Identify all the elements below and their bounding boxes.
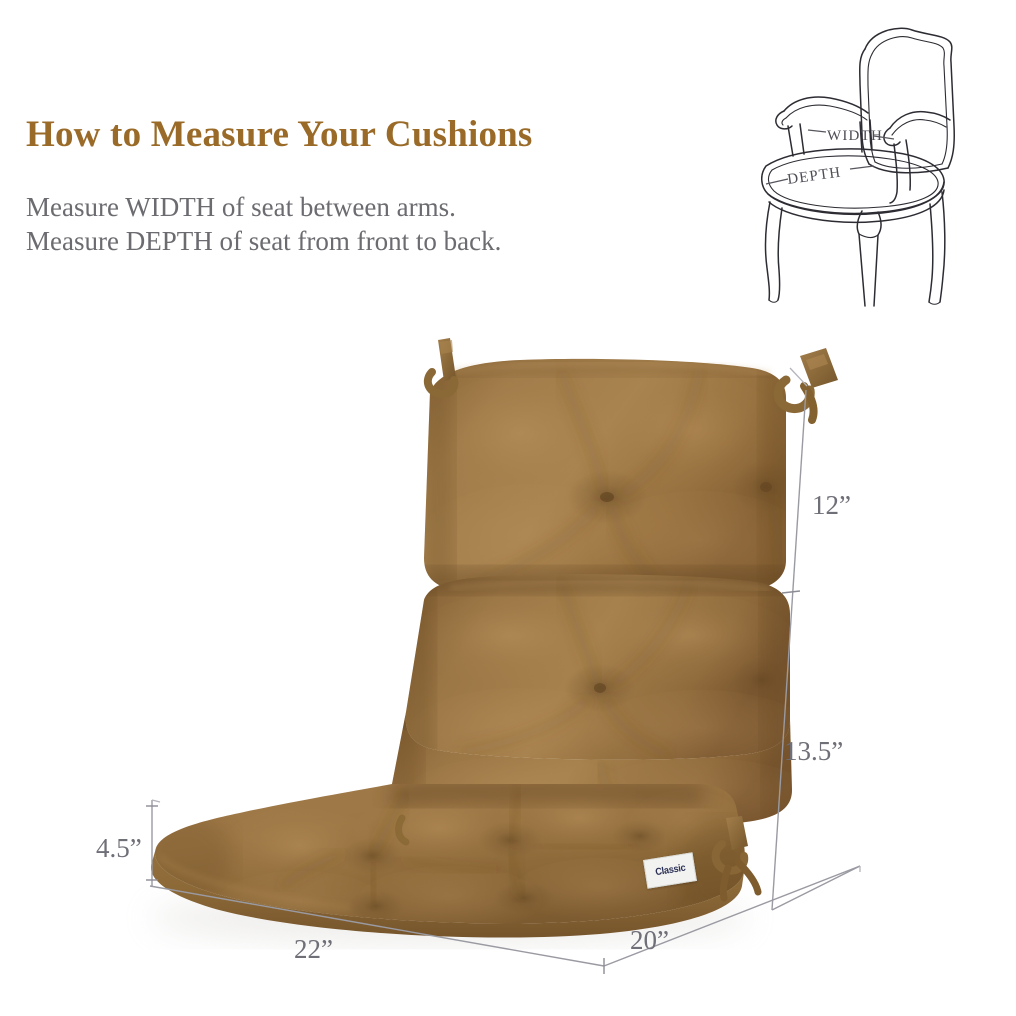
brand-tag-text: Classic xyxy=(654,863,686,879)
lower-back-cushion xyxy=(396,568,810,778)
tie-strap-upper-right xyxy=(778,348,838,420)
product-image xyxy=(0,0,1016,1016)
infographic-canvas: How to Measure Your Cushions Measure WID… xyxy=(0,0,1016,1016)
upper-back-cushion xyxy=(420,352,810,602)
